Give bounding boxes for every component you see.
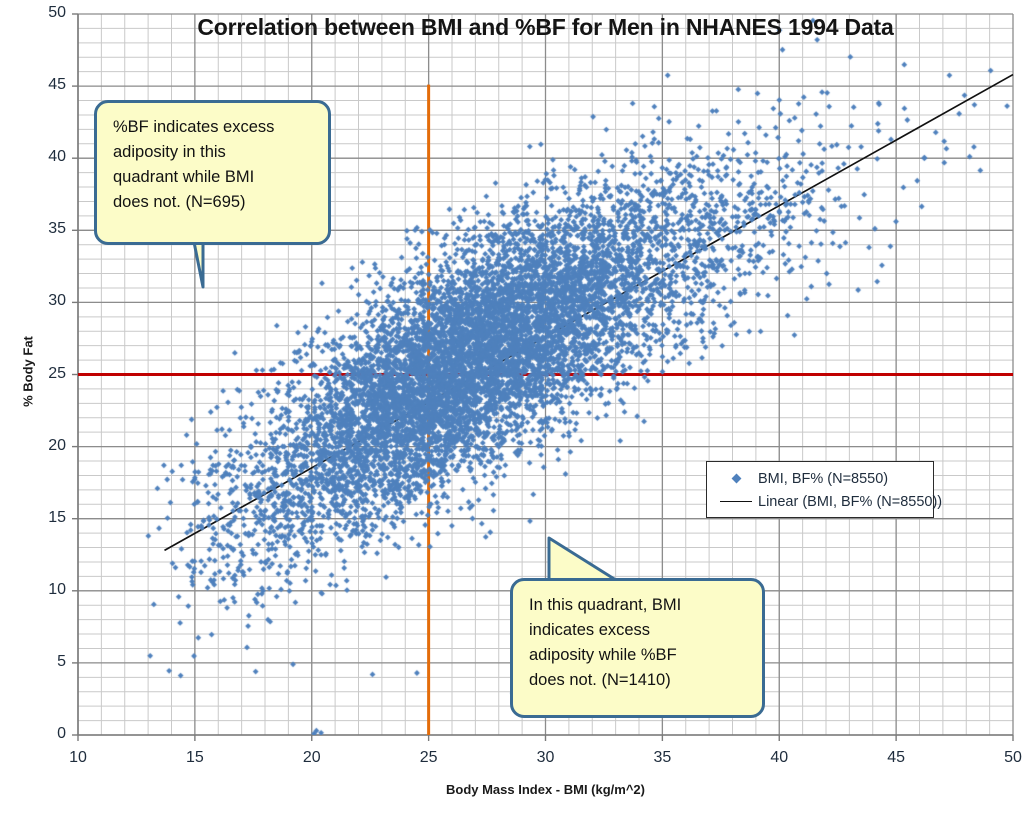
callout-line: does not. (N=1410) (529, 668, 746, 693)
diamond-marker-icon (714, 475, 758, 482)
legend-entry-scatter: BMI, BF% (N=8550) (707, 467, 933, 490)
y-tick-label: 0 (20, 725, 66, 743)
callout-upper-left-body: %BF indicates excess adiposity in this q… (94, 100, 331, 245)
callout-line: adiposity while %BF (529, 643, 746, 668)
y-tick-label: 25 (20, 365, 66, 383)
x-tick-label: 50 (983, 749, 1036, 767)
x-tick-label: 15 (165, 749, 225, 767)
y-tick-label: 20 (20, 437, 66, 455)
y-tick-label: 10 (20, 581, 66, 599)
callout-lower-right-body: In this quadrant, BMI indicates excess a… (510, 578, 765, 718)
legend-label-trendline: Linear (BMI, BF% (N=8550)) (758, 494, 942, 510)
x-tick-label: 10 (48, 749, 108, 767)
x-axis-title: Body Mass Index - BMI (kg/m^2) (78, 782, 1013, 797)
x-tick-label: 20 (282, 749, 342, 767)
y-tick-label: 15 (20, 509, 66, 527)
callout-line: does not. (N=695) (113, 190, 312, 215)
callout-line: adiposity in this (113, 140, 312, 165)
line-marker-icon (714, 501, 758, 502)
callout-line: In this quadrant, BMI (529, 593, 746, 618)
x-tick-label: 45 (866, 749, 926, 767)
y-tick-label: 5 (20, 653, 66, 671)
callout-line: indicates excess (529, 618, 746, 643)
callout-line: %BF indicates excess (113, 115, 312, 140)
x-tick-label: 25 (399, 749, 459, 767)
legend-label-scatter: BMI, BF% (N=8550) (758, 471, 888, 487)
callout-line: quadrant while BMI (113, 165, 312, 190)
scatter-chart: Correlation between BMI and %BF for Men … (0, 0, 1036, 815)
